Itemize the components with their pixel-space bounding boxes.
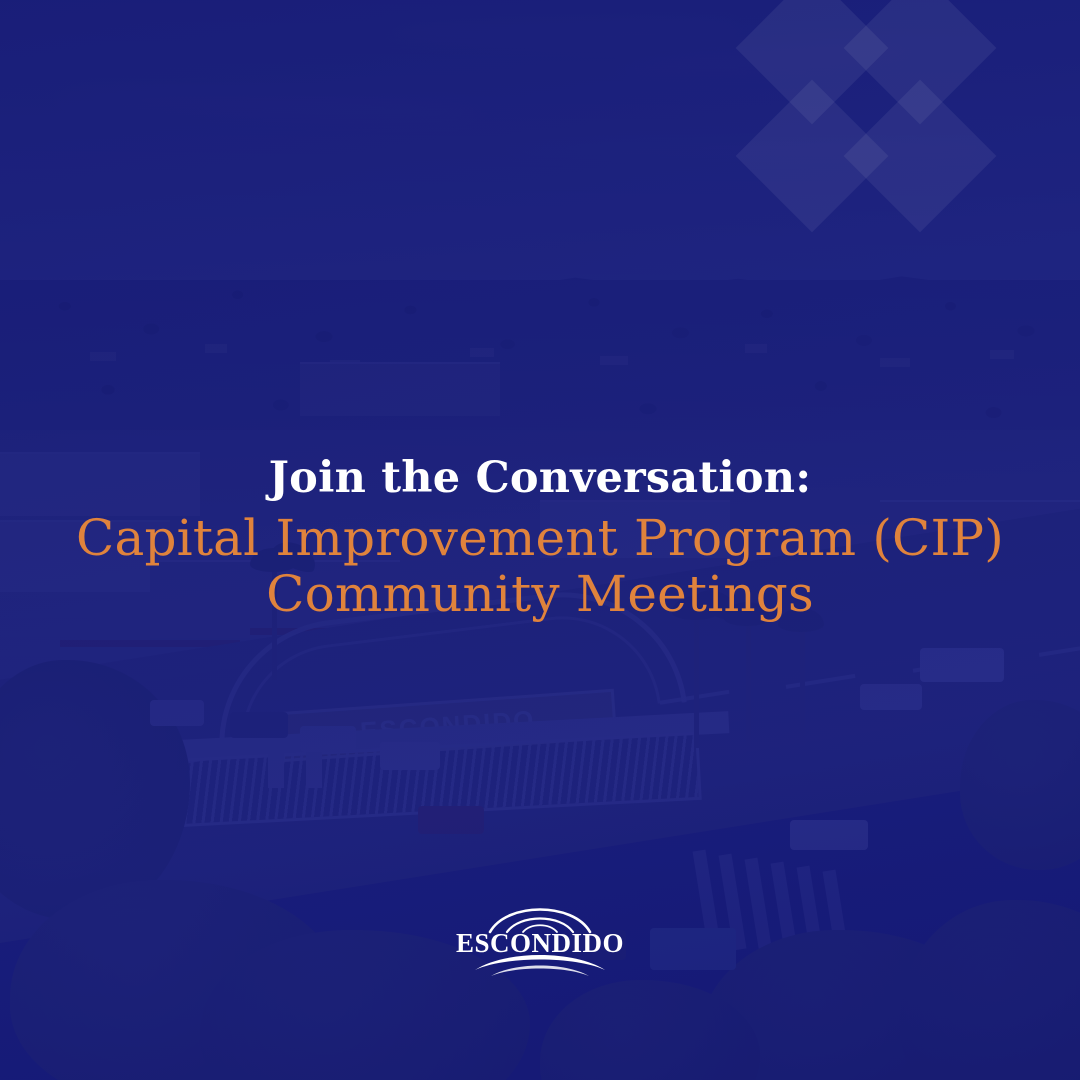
- headline-main-line-1: Capital Improvement Program (CIP): [0, 510, 1080, 566]
- logo-wordmark: ESCONDIDO: [456, 928, 624, 958]
- headline-kicker: Join the Conversation:: [0, 455, 1080, 501]
- diamond-pattern-decoration: [700, 0, 1040, 238]
- social-poster: ESCONDIDO: [0, 0, 1080, 1080]
- headline-block: Join the Conversation: Capital Improveme…: [0, 455, 1080, 622]
- logo-valley-swooshes: [475, 955, 605, 976]
- escondido-city-logo: ESCONDIDO: [455, 898, 625, 978]
- headline-main-line-2: Community Meetings: [0, 566, 1080, 622]
- diamond-icon: [844, 80, 997, 233]
